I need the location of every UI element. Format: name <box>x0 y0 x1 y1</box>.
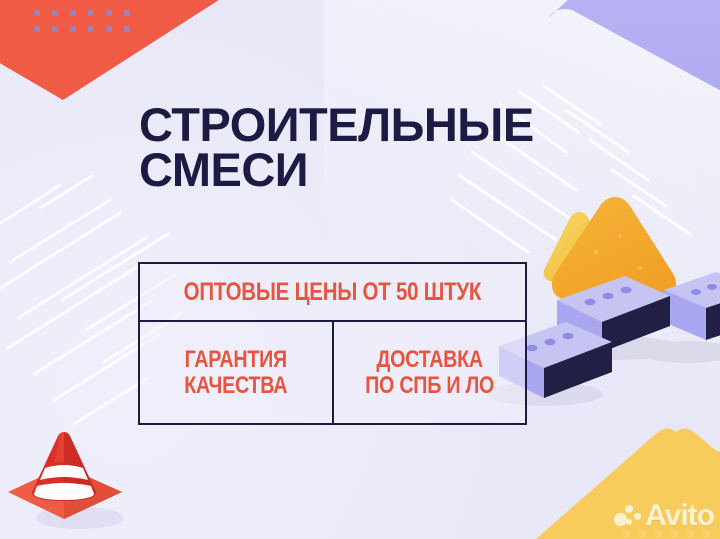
headline-line-2: СМЕСИ <box>139 147 609 192</box>
feature-price-label: ОПТОВЫЕ ЦЕНЫ ОТ 50 ШТУК <box>184 279 481 306</box>
page-title: СТРОИТЕЛЬНЫЕ СМЕСИ <box>139 102 609 192</box>
traffic-cone-illustration <box>8 432 124 529</box>
feature-cell-quality: ГАРАНТИЯ КАЧЕСТВА <box>140 322 334 423</box>
poster-canvas: СТРОИТЕЛЬНЫЕ СМЕСИ ОПТОВЫЕ ЦЕНЫ ОТ 50 ШТ… <box>0 0 720 539</box>
feature-row-price: ОПТОВЫЕ ЦЕНЫ ОТ 50 ШТУК <box>140 264 525 322</box>
feature-quality-line-2: КАЧЕСТВА <box>184 372 287 399</box>
avito-dots-icon <box>614 504 641 528</box>
feature-quality-label: ГАРАНТИЯ КАЧЕСТВА <box>184 347 287 398</box>
feature-quality-line-1: ГАРАНТИЯ <box>185 346 287 373</box>
watermark-dot-row <box>623 530 710 537</box>
feature-delivery-label: ДОСТАВКА ПО СПБ И ЛО <box>365 347 494 398</box>
features-box: ОПТОВЫЕ ЦЕНЫ ОТ 50 ШТУК ГАРАНТИЯ КАЧЕСТВ… <box>138 262 527 425</box>
feature-cell-delivery: ДОСТАВКА ПО СПБ И ЛО <box>334 322 526 423</box>
feature-delivery-line-2: ПО СПБ И ЛО <box>365 372 494 399</box>
avito-brand-text: Avito <box>645 501 714 531</box>
avito-watermark: Avito <box>614 501 714 531</box>
feature-delivery-line-1: ДОСТАВКА <box>376 346 483 373</box>
feature-row-bottom: ГАРАНТИЯ КАЧЕСТВА ДОСТАВКА ПО СПБ И ЛО <box>140 322 525 423</box>
